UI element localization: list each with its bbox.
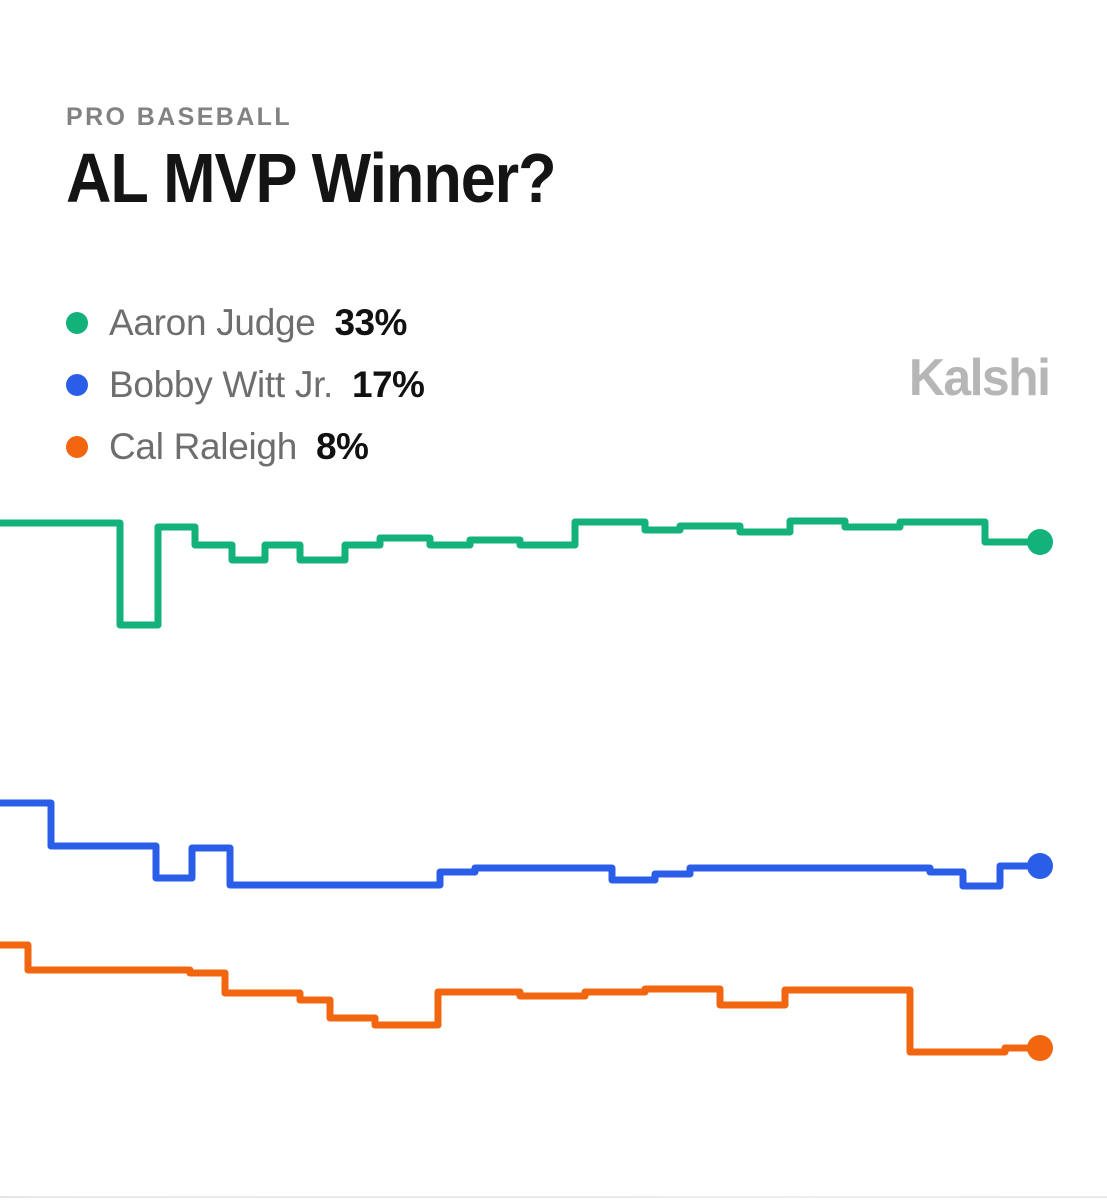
chart-card: PRO BASEBALL AL MVP Winner? Aaron Judge … [0, 0, 1107, 1200]
legend-percent: 33% [335, 302, 407, 344]
header: PRO BASEBALL AL MVP Winner? [66, 104, 1046, 215]
legend-percent: 8% [316, 426, 368, 468]
category-eyebrow: PRO BASEBALL [66, 104, 1046, 132]
legend-label: Aaron Judge [109, 302, 316, 344]
legend-dot-blue-icon [66, 374, 88, 396]
legend-dot-orange-icon [66, 436, 88, 458]
series-end-marker [1027, 853, 1053, 879]
legend-dot-green-icon [66, 312, 88, 334]
kalshi-logo: Kalshi [908, 348, 1049, 408]
series-end-marker [1027, 529, 1053, 555]
legend-item-bobby-witt-jr[interactable]: Bobby Witt Jr. 17% [66, 354, 766, 416]
page-title: AL MVP Winner? [66, 142, 948, 216]
legend-item-cal-raleigh[interactable]: Cal Raleigh 8% [66, 416, 766, 478]
legend-label: Bobby Witt Jr. [109, 364, 333, 406]
series-line [0, 803, 1040, 886]
series-line [0, 945, 1040, 1052]
legend-item-aaron-judge[interactable]: Aaron Judge 33% [66, 292, 766, 354]
legend-percent: 17% [352, 364, 424, 406]
series-end-marker [1027, 1035, 1053, 1061]
chart-legend: Aaron Judge 33% Bobby Witt Jr. 17% Cal R… [66, 292, 766, 478]
bottom-divider [0, 1196, 1107, 1198]
series-line [0, 521, 1040, 625]
series-layer [0, 521, 1053, 1061]
legend-label: Cal Raleigh [109, 426, 297, 468]
